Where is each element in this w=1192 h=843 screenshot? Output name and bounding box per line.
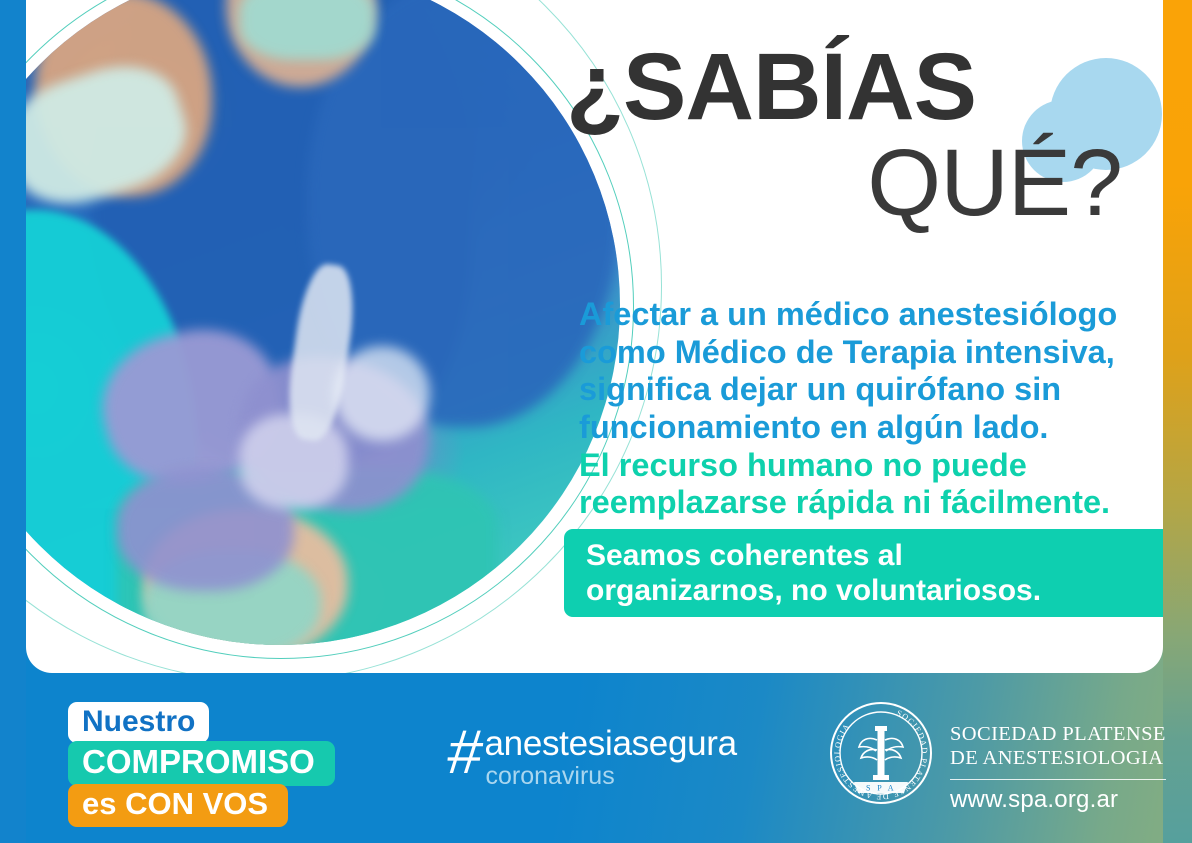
hashtag-sub-text: coronavirus <box>485 763 736 789</box>
left-accent-bar <box>0 0 26 843</box>
photo-blob-face-mask-back <box>239 0 375 60</box>
society-lockup: SOCIEDAD PLATENSE DE ANESTESIOLOGIA S P … <box>828 700 1166 812</box>
society-seal-icon: SOCIEDAD PLATENSE DE ANESTESIOLOGIA S P … <box>828 700 934 806</box>
headline-block: ¿SABÍAS QUÉ? <box>566 42 1163 229</box>
hash-symbol-icon: # <box>445 728 485 778</box>
callout-line-2: organizarnos, no voluntariosos. <box>586 573 1163 608</box>
hashtag-main-text: anestesiasegura <box>484 726 736 761</box>
society-name-line-1: SOCIEDAD PLATENSE <box>950 722 1166 746</box>
body-line-2: como Médico de Terapia intensiva, <box>579 334 1163 372</box>
commitment-lockup: Nuestro COMPROMISO es CON VOS <box>68 702 388 827</box>
body-line-4: funcionamiento en algún lado. <box>579 409 1163 447</box>
photo-blob-highlight <box>334 346 429 441</box>
body-line-5: El recurso humano no puede <box>579 447 1163 485</box>
commitment-line-1: Nuestro <box>68 702 209 743</box>
society-divider <box>950 779 1166 780</box>
photo-area <box>26 0 620 673</box>
hashtag-lockup: # anestesiasegura coronavirus <box>448 726 808 789</box>
headline-line-1: ¿SABÍAS <box>566 42 1163 132</box>
circular-photo-mask <box>26 0 620 645</box>
body-line-1: Afectar a un médico anestesiólogo <box>579 296 1163 334</box>
callout-banner: Seamos coherentes al organizarnos, no vo… <box>564 529 1163 617</box>
commitment-line-2: COMPROMISO <box>68 741 335 786</box>
commitment-line-3: es CON VOS <box>68 784 288 827</box>
white-card: ¿SABÍAS QUÉ? Afectar a un médico anestes… <box>26 0 1163 673</box>
headline-line-2: QUÉ? <box>566 138 1163 228</box>
right-gradient-strip <box>1163 0 1192 843</box>
callout-line-1: Seamos coherentes al <box>586 538 1163 573</box>
body-line-6: reemplazarse rápida ni fácilmente. <box>579 484 1163 522</box>
society-name-line-2: DE ANESTESIOLOGIA <box>950 746 1166 770</box>
body-line-3: significa dejar un quirófano sin <box>579 371 1163 409</box>
poster: ¿SABÍAS QUÉ? Afectar a un médico anestes… <box>0 0 1192 843</box>
seal-banner-text: S P A <box>866 784 896 793</box>
society-url[interactable]: www.spa.org.ar <box>950 788 1166 812</box>
body-copy: Afectar a un médico anestesiólogo como M… <box>579 296 1163 522</box>
operating-room-photo <box>26 0 620 645</box>
